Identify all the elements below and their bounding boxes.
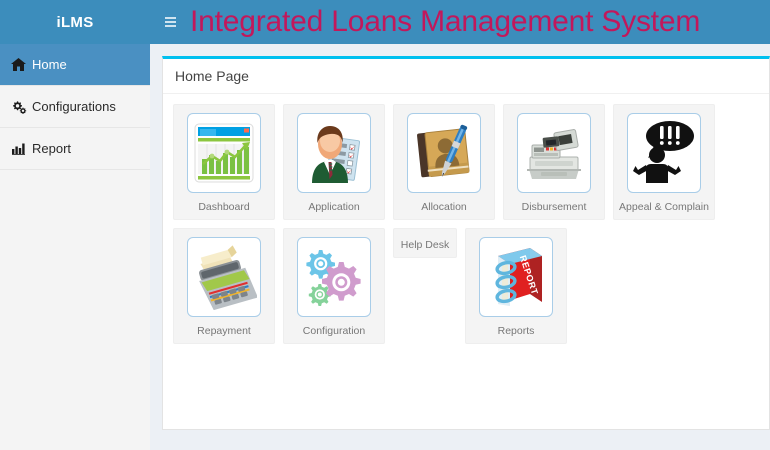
page-title: Integrated Loans Management System <box>190 0 700 44</box>
tile-appeal-complain-label: Appeal & Complain <box>619 201 709 213</box>
sidebar-item-report-label: Report <box>32 141 71 156</box>
person-speech-bubble-icon <box>627 113 701 193</box>
bar-chart-icon <box>10 142 27 156</box>
gears-color-icon <box>297 237 371 317</box>
sidebar-item-report[interactable]: Report <box>0 128 150 170</box>
cash-register-icon <box>517 113 591 193</box>
sidebar-item-home-label: Home <box>32 57 67 72</box>
tile-dashboard[interactable]: Dashboard <box>173 104 275 220</box>
tile-repayment[interactable]: Repayment <box>173 228 275 344</box>
sidebar-item-home[interactable]: Home <box>0 44 150 86</box>
tile-allocation-label: Allocation <box>421 201 467 213</box>
tile-disbursement[interactable]: Disbursement <box>503 104 605 220</box>
home-icon <box>10 58 27 72</box>
tile-help-desk[interactable]: Help Desk <box>393 228 457 258</box>
panel-body: Dashboard <box>163 94 769 364</box>
sidebar: Home Configurations <box>0 44 151 450</box>
dashboard-chart-icon <box>187 113 261 193</box>
panel-title: Home Page <box>175 68 249 84</box>
hamburger-line <box>165 25 176 27</box>
tile-row-2: Repayment <box>173 228 757 344</box>
tile-help-desk-label: Help Desk <box>401 239 449 251</box>
content-area: Home Page <box>150 44 770 450</box>
tile-configuration-label: Configuration <box>303 325 365 337</box>
gears-icon <box>10 100 27 114</box>
address-book-pen-icon <box>407 113 481 193</box>
panel-header: Home Page <box>163 59 769 94</box>
tile-repayment-label: Repayment <box>197 325 251 337</box>
sidebar-item-configurations[interactable]: Configurations <box>0 86 150 128</box>
top-navbar: Integrated Loans Management System <box>150 0 770 44</box>
hamburger-icon[interactable] <box>156 0 184 44</box>
application-window: iLMS Integrated Loans Management System … <box>0 0 770 450</box>
report-binder-icon: REPORT <box>479 237 553 317</box>
hamburger-line <box>165 21 176 23</box>
tile-disbursement-label: Disbursement <box>522 201 587 213</box>
tile-reports-label: Reports <box>498 325 535 337</box>
tile-reports[interactable]: REPORT Reports <box>465 228 567 344</box>
hamburger-line <box>165 17 176 19</box>
sidebar-item-configurations-label: Configurations <box>32 99 116 114</box>
home-page-panel: Home Page <box>162 56 770 430</box>
top-header-bar: iLMS Integrated Loans Management System <box>0 0 770 44</box>
tile-configuration[interactable]: Configuration <box>283 228 385 344</box>
tile-row-1: Dashboard <box>173 104 757 220</box>
card-payment-terminal-icon <box>187 237 261 317</box>
tile-allocation[interactable]: Allocation <box>393 104 495 220</box>
tile-application-label: Application <box>308 201 359 213</box>
applicant-person-form-icon <box>297 113 371 193</box>
tile-application[interactable]: Application <box>283 104 385 220</box>
app-logo[interactable]: iLMS <box>0 0 150 44</box>
tile-appeal-complain[interactable]: Appeal & Complain <box>613 104 715 220</box>
tile-dashboard-label: Dashboard <box>198 201 249 213</box>
app-logo-text: iLMS <box>56 14 93 31</box>
